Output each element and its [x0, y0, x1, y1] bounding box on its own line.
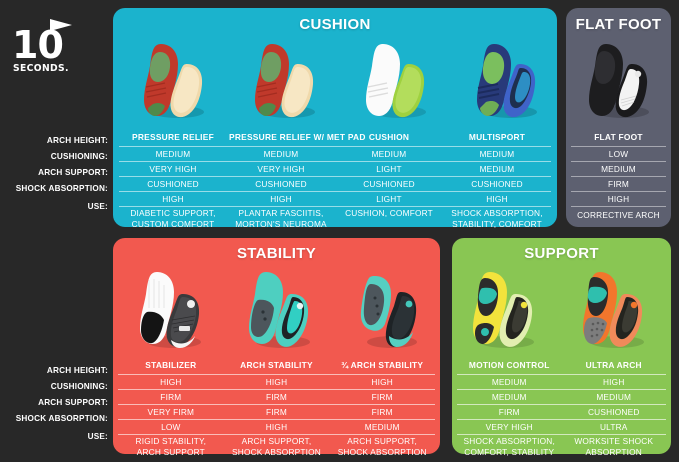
cell-arch-support: FIRM — [457, 404, 562, 419]
cell-use-line2: ABSORPTION — [562, 447, 667, 457]
row-label-shock-absorption: SHOCK ABSORPTION: — [0, 184, 108, 193]
table-row: LOW — [571, 146, 666, 161]
brand-logo: 10 SECONDS. — [10, 18, 82, 80]
row-label-cushioning: CUSHIONING: — [0, 152, 108, 161]
support-header-row: MOTION CONTROL ULTRA ARCH — [457, 358, 666, 374]
product-image-three-quarter-arch-stability — [331, 264, 440, 352]
cell-use-line1: SHOCK ABSORPTION, — [457, 436, 562, 447]
cell-shock-absorption: HIGH — [224, 419, 330, 434]
column-header-stabilizer: STABILIZER — [118, 358, 224, 374]
column-header-arch-stability: ARCH STABILITY — [224, 358, 330, 374]
table-row: MEDIUM — [571, 161, 666, 176]
cushion-table: PRESSURE RELIEF PRESSURE RELIEF W/ MET P… — [119, 130, 551, 228]
cell-arch-support: CUSHIONED — [227, 176, 335, 191]
cell-use-line2: SHOCK ABSORPTION — [224, 447, 330, 457]
panel-flat-foot-title: FLAT FOOT — [566, 16, 671, 33]
stability-table: STABILIZER ARCH STABILITY ¾ ARCH STABILI… — [118, 358, 435, 456]
cell-use: CUSHION, COMFORT — [335, 206, 443, 228]
cell-use-line1: WORKSITE SHOCK — [562, 436, 667, 447]
cell-arch-height: MEDIUM — [227, 146, 335, 161]
cell-arch-support: CUSHIONED — [335, 176, 443, 191]
cell-arch-height: MEDIUM — [443, 146, 551, 161]
cell-arch-support: CUSHIONED — [562, 404, 667, 419]
cell-shock-absorption: HIGH — [571, 191, 666, 206]
cell-use: WORKSITE SHOCKABSORPTION — [562, 434, 667, 456]
cell-arch-support: FIRM — [571, 176, 666, 191]
cell-cushioning: MEDIUM — [562, 389, 667, 404]
cell-use: ARCH SUPPORT,SHOCK ABSORPTION — [224, 434, 330, 456]
cell-use-line2: COMFORT, STABILITY — [457, 447, 562, 457]
cell-arch-height: MEDIUM — [335, 146, 443, 161]
cell-cushioning: MEDIUM — [443, 161, 551, 176]
table-row: HIGH — [571, 191, 666, 206]
cell-use-line1: PLANTAR FASCIITIS, — [227, 208, 335, 219]
cell-arch-support: CUSHIONED — [119, 176, 227, 191]
table-row: HIGH HIGH LIGHT HIGH — [119, 191, 551, 206]
cell-use-line2: ARCH SUPPORT — [118, 447, 224, 457]
row-label-use: USE: — [0, 202, 108, 211]
support-product-images — [452, 264, 671, 352]
cell-use-line2: SHOCK ABSORPTION — [329, 447, 435, 457]
logo-wordmark: SECONDS. — [13, 64, 69, 74]
column-header-pressure-relief-met-pad: PRESSURE RELIEF W/ MET PAD — [227, 130, 335, 146]
table-row: FIRM CUSHIONED — [457, 404, 666, 419]
cell-arch-support: CUSHIONED — [443, 176, 551, 191]
cell-use: DIABETIC SUPPORT,CUSTOM COMFORT — [119, 206, 227, 228]
column-header-motion-control: MOTION CONTROL — [457, 358, 562, 374]
product-image-flat-foot — [566, 36, 671, 124]
product-image-cushion — [335, 36, 446, 124]
table-row: MEDIUM MEDIUM — [457, 389, 666, 404]
table-row: LOW HIGH MEDIUM — [118, 419, 435, 434]
row-labels-top: ARCH HEIGHT: CUSHIONING: ARCH SUPPORT: S… — [0, 136, 108, 226]
row-label-shock-absorption-2: SHOCK ABSORPTION: — [0, 414, 108, 423]
cell-arch-height: MEDIUM — [119, 146, 227, 161]
flat-foot-table: FLAT FOOT LOW MEDIUM FIRM HIGH CORRECTIV… — [571, 130, 666, 228]
cell-cushioning: FIRM — [118, 389, 224, 404]
cell-use-line1: CUSHION, COMFORT — [335, 208, 443, 219]
cell-shock-absorption: LIGHT — [335, 191, 443, 206]
logo-number: 10 — [12, 26, 63, 64]
cell-shock-absorption: HIGH — [227, 191, 335, 206]
table-row: CUSHIONED CUSHIONED CUSHIONED CUSHIONED — [119, 176, 551, 191]
table-row: MEDIUM MEDIUM MEDIUM MEDIUM — [119, 146, 551, 161]
row-label-use-2: USE: — [0, 432, 108, 441]
cell-cushioning: VERY HIGH — [227, 161, 335, 176]
cell-arch-height: HIGH — [562, 374, 667, 389]
table-row: FIRM — [571, 176, 666, 191]
table-row: FIRM FIRM FIRM — [118, 389, 435, 404]
cushion-product-images — [113, 36, 557, 124]
panel-support-title: SUPPORT — [452, 245, 671, 262]
panel-flat-foot[interactable]: FLAT FOOT FLAT FOOT LOW MEDIUM — [566, 8, 671, 227]
cell-shock-absorption: MEDIUM — [329, 419, 435, 434]
product-image-pressure-relief-met-pad — [224, 36, 335, 124]
cell-use-line1: CORRECTIVE ARCH — [571, 208, 666, 223]
cell-arch-height: HIGH — [118, 374, 224, 389]
stability-product-images — [113, 264, 440, 352]
cell-arch-support: VERY FIRM — [118, 404, 224, 419]
cell-cushioning: FIRM — [329, 389, 435, 404]
panel-support[interactable]: SUPPORT — [452, 238, 671, 454]
product-image-stabilizer — [113, 264, 222, 352]
cell-shock-absorption: LOW — [118, 419, 224, 434]
table-row: VERY HIGH VERY HIGH LIGHT MEDIUM — [119, 161, 551, 176]
cell-cushioning: MEDIUM — [571, 161, 666, 176]
cell-cushioning: FIRM — [224, 389, 330, 404]
table-row: CORRECTIVE ARCH — [571, 206, 666, 228]
cell-shock-absorption: ULTRA — [562, 419, 667, 434]
cell-use: SHOCK ABSORPTION,STABILITY, COMFORT — [443, 206, 551, 228]
table-row: DIABETIC SUPPORT,CUSTOM COMFORT PLANTAR … — [119, 206, 551, 228]
table-row: RIGID STABILITY,ARCH SUPPORT ARCH SUPPOR… — [118, 434, 435, 456]
cell-use: ARCH SUPPORT,SHOCK ABSORPTION — [329, 434, 435, 456]
table-row: MEDIUM HIGH — [457, 374, 666, 389]
product-image-motion-control — [452, 264, 562, 352]
cell-cushioning: VERY HIGH — [119, 161, 227, 176]
cell-cushioning: MEDIUM — [457, 389, 562, 404]
panel-cushion[interactable]: CUSHION — [113, 8, 557, 227]
cell-arch-support: FIRM — [224, 404, 330, 419]
column-header-cushion: CUSHION — [335, 130, 443, 146]
row-labels-bottom: ARCH HEIGHT: CUSHIONING: ARCH SUPPORT: S… — [0, 366, 108, 456]
cell-use: CORRECTIVE ARCH — [571, 206, 666, 228]
cell-use-line1: ARCH SUPPORT, — [329, 436, 435, 447]
cell-shock-absorption: HIGH — [443, 191, 551, 206]
cell-arch-height: HIGH — [224, 374, 330, 389]
column-header-ultra-arch: ULTRA ARCH — [562, 358, 667, 374]
row-label-arch-support-2: ARCH SUPPORT: — [0, 398, 108, 407]
support-table: MOTION CONTROL ULTRA ARCH MEDIUM HIGH ME… — [457, 358, 666, 456]
panel-cushion-title: CUSHION — [113, 16, 557, 33]
cell-use-line2: MORTON'S NEUROMA — [227, 219, 335, 229]
panel-stability-title: STABILITY — [113, 245, 440, 262]
cell-arch-height: HIGH — [329, 374, 435, 389]
cell-use-line1: ARCH SUPPORT, — [224, 436, 330, 447]
cell-use-line1: SHOCK ABSORPTION, — [443, 208, 551, 219]
cell-use: PLANTAR FASCIITIS,MORTON'S NEUROMA — [227, 206, 335, 228]
column-header-pressure-relief: PRESSURE RELIEF — [119, 130, 227, 146]
product-image-ultra-arch — [562, 264, 672, 352]
stability-header-row: STABILIZER ARCH STABILITY ¾ ARCH STABILI… — [118, 358, 435, 374]
table-row: SHOCK ABSORPTION,COMFORT, STABILITY WORK… — [457, 434, 666, 456]
column-header-flat-foot: FLAT FOOT — [571, 130, 666, 146]
cell-arch-height: MEDIUM — [457, 374, 562, 389]
cell-use: SHOCK ABSORPTION,COMFORT, STABILITY — [457, 434, 562, 456]
cell-arch-support: FIRM — [329, 404, 435, 419]
column-header-three-quarter-arch-stability: ¾ ARCH STABILITY — [329, 358, 435, 374]
product-image-multisport — [446, 36, 557, 124]
row-label-cushioning-2: CUSHIONING: — [0, 382, 108, 391]
insole-comparison-chart: 10 SECONDS. ARCH HEIGHT: CUSHIONING: ARC… — [0, 0, 679, 462]
table-row: HIGH HIGH HIGH — [118, 374, 435, 389]
cell-arch-height: LOW — [571, 146, 666, 161]
cell-use: RIGID STABILITY,ARCH SUPPORT — [118, 434, 224, 456]
cell-use-line1: DIABETIC SUPPORT, — [119, 208, 227, 219]
flat-foot-product-images — [566, 36, 671, 124]
cell-shock-absorption: VERY HIGH — [457, 419, 562, 434]
product-image-arch-stability — [222, 264, 331, 352]
column-header-multisport: MULTISPORT — [443, 130, 551, 146]
cushion-header-row: PRESSURE RELIEF PRESSURE RELIEF W/ MET P… — [119, 130, 551, 146]
cell-shock-absorption: HIGH — [119, 191, 227, 206]
cell-use-line2: STABILITY, COMFORT — [443, 219, 551, 229]
table-row: VERY FIRM FIRM FIRM — [118, 404, 435, 419]
row-label-arch-support: ARCH SUPPORT: — [0, 168, 108, 177]
cell-cushioning: LIGHT — [335, 161, 443, 176]
product-image-pressure-relief — [113, 36, 224, 124]
cell-use-line2: CUSTOM COMFORT — [119, 219, 227, 229]
panel-stability[interactable]: STABILITY — [113, 238, 440, 454]
row-label-arch-height: ARCH HEIGHT: — [0, 136, 108, 145]
table-row: VERY HIGH ULTRA — [457, 419, 666, 434]
cell-use-line1: RIGID STABILITY, — [118, 436, 224, 447]
row-label-arch-height-2: ARCH HEIGHT: — [0, 366, 108, 375]
